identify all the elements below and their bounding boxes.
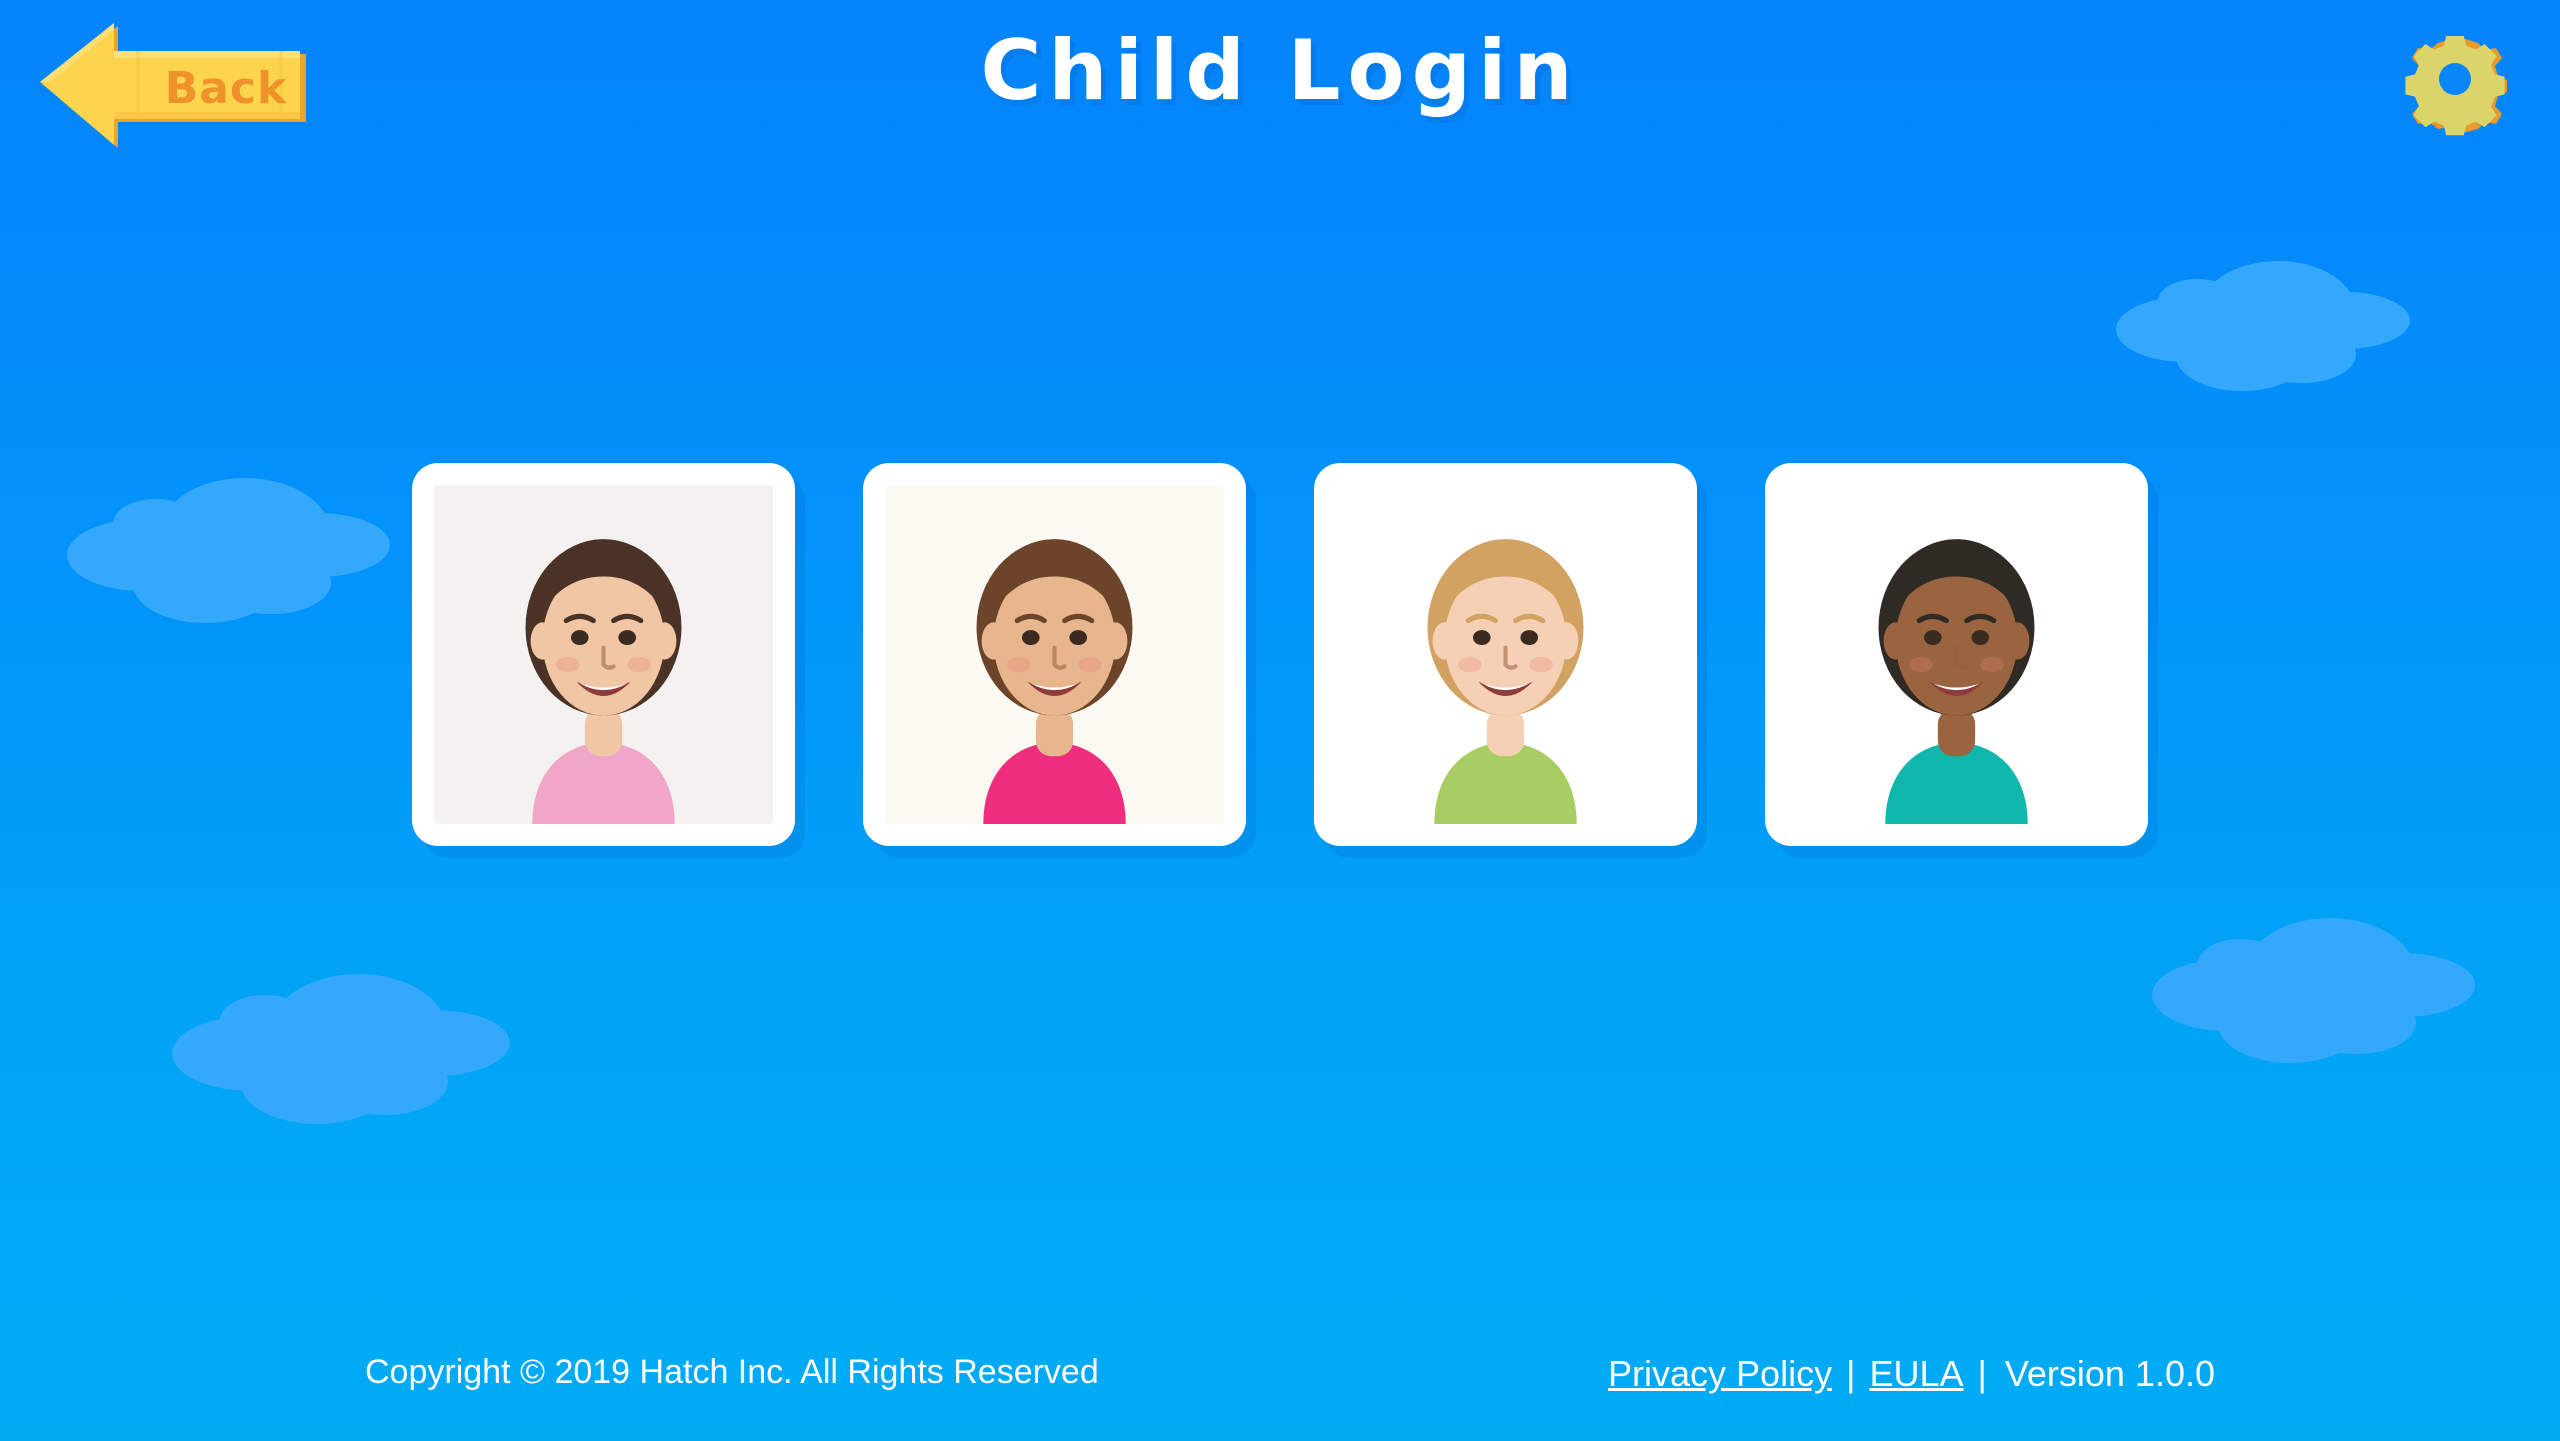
profile-photo-1 [434,485,773,824]
privacy-policy-link[interactable]: Privacy Policy [1608,1353,1832,1395]
cloud-bottom-left [165,950,510,1100]
footer-links: Privacy Policy | EULA | Version 1.0.0 [1608,1353,2215,1395]
cloud-puff [220,995,310,1046]
gear-icon [2402,26,2512,136]
page-title: Child Login [0,22,2560,119]
settings-button[interactable] [2402,26,2512,136]
footer-separator-2: | [1977,1353,1986,1395]
profile-card-4[interactable] [1765,463,2148,846]
cloud-puff [2248,326,2356,383]
cloud-puff [2198,939,2284,988]
portrait-illustration [885,485,1224,824]
copyright-text: Copyright © 2019 Hatch Inc. All Rights R… [365,1353,1099,1392]
cloud-bottom-right [2145,895,2475,1040]
version-text: Version 1.0.0 [2005,1353,2215,1395]
footer-bar: Copyright © 2019 Hatch Inc. All Rights R… [0,1321,2560,1441]
eula-link[interactable]: EULA [1869,1353,1963,1395]
footer-separator-1: | [1846,1353,1855,1395]
portrait-illustration [1787,485,2126,824]
profile-photo-2 [885,485,1224,824]
profile-card-2[interactable] [863,463,1246,846]
portrait-illustration [1336,485,1675,824]
cloud-puff [2297,991,2416,1055]
cloud-puff [324,1049,448,1115]
child-login-screen: Back Child Login Copyright © 2019 Hatch … [0,0,2560,1441]
portrait-illustration [434,485,773,824]
profile-card-1[interactable] [412,463,795,846]
cloud-puff [2158,279,2236,323]
profile-photo-4 [1787,485,2126,824]
cloud-top-right [2110,240,2410,370]
header-bar: Back Child Login [0,0,2560,190]
profile-card-list [0,463,2560,846]
profile-photo-3 [1336,485,1675,824]
profile-card-3[interactable] [1314,463,1697,846]
